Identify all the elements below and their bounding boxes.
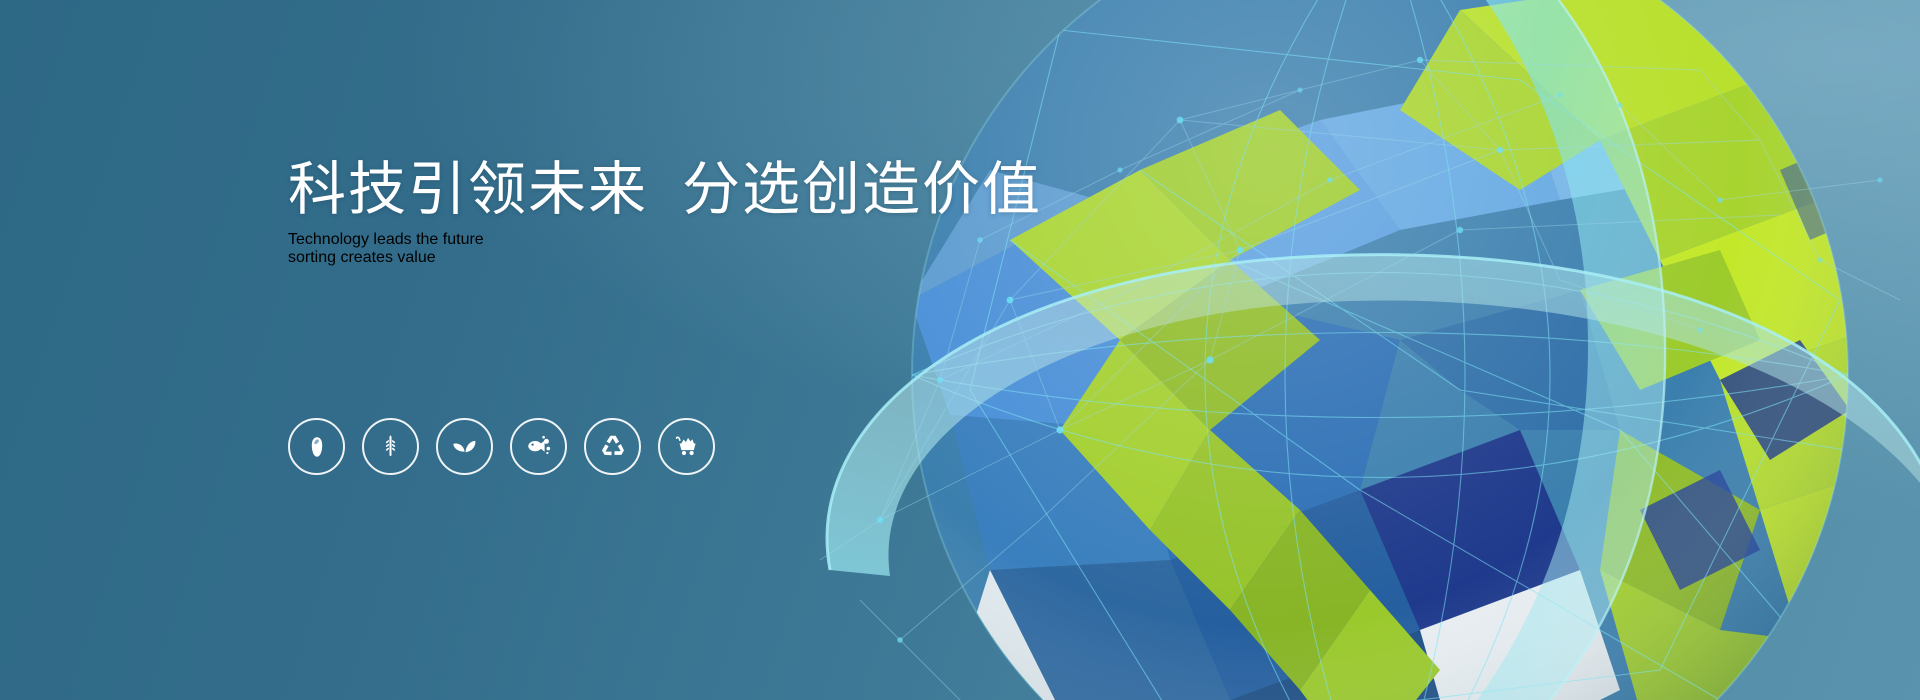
- globe-svg: [760, 0, 1920, 700]
- network-mesh-overlay: [0, 0, 1920, 700]
- icon-badge-wheat-ear[interactable]: [362, 418, 419, 475]
- low-poly-globe-graphic: [760, 0, 1920, 700]
- globe-mesh-lines: [912, 0, 1910, 700]
- ore-cart-icon: [672, 432, 701, 461]
- hero-banner: 科技引领未来分选创造价值 Technology leads the future…: [0, 0, 1920, 700]
- subtitle-line-1: Technology leads the future: [288, 231, 1048, 249]
- orbital-ribbons: [827, 0, 1920, 700]
- tea-leaf-icon: [450, 432, 479, 461]
- icon-badge-ore-cart[interactable]: [658, 418, 715, 475]
- rice-grain-icon: [304, 434, 330, 460]
- globe-rim: [912, 0, 1848, 700]
- banner-text-block: 科技引领未来分选创造价值 Technology leads the future…: [288, 160, 1048, 283]
- icon-badge-fish[interactable]: [510, 418, 567, 475]
- network-mesh-svg: [0, 0, 1920, 700]
- headline-part-1: 科技引领未来: [288, 157, 648, 222]
- wheat-ear-icon: [377, 433, 404, 460]
- fish-icon: [524, 432, 553, 461]
- globe-inland-navy-facets: [1640, 140, 1920, 600]
- icon-badge-recycle[interactable]: [584, 418, 641, 475]
- industry-icon-row: [288, 418, 715, 475]
- globe-land-facets-right: [1400, 0, 1920, 700]
- icon-badge-tea-leaf[interactable]: [436, 418, 493, 475]
- headline-part-2: 分选创造价值: [682, 157, 1042, 222]
- globe-sphere: [910, 0, 1920, 700]
- subtitle-line-2: sorting creates value: [288, 249, 1048, 267]
- network-lines: [820, 60, 1900, 700]
- icon-badge-rice-grain[interactable]: [288, 418, 345, 475]
- recycle-icon: [599, 433, 627, 461]
- network-nodes: [877, 57, 1883, 643]
- globe-land-facets-left: [1010, 110, 1440, 700]
- page-title: 科技引领未来分选创造价值: [288, 160, 1048, 221]
- globe-ice-facets: [940, 570, 1620, 700]
